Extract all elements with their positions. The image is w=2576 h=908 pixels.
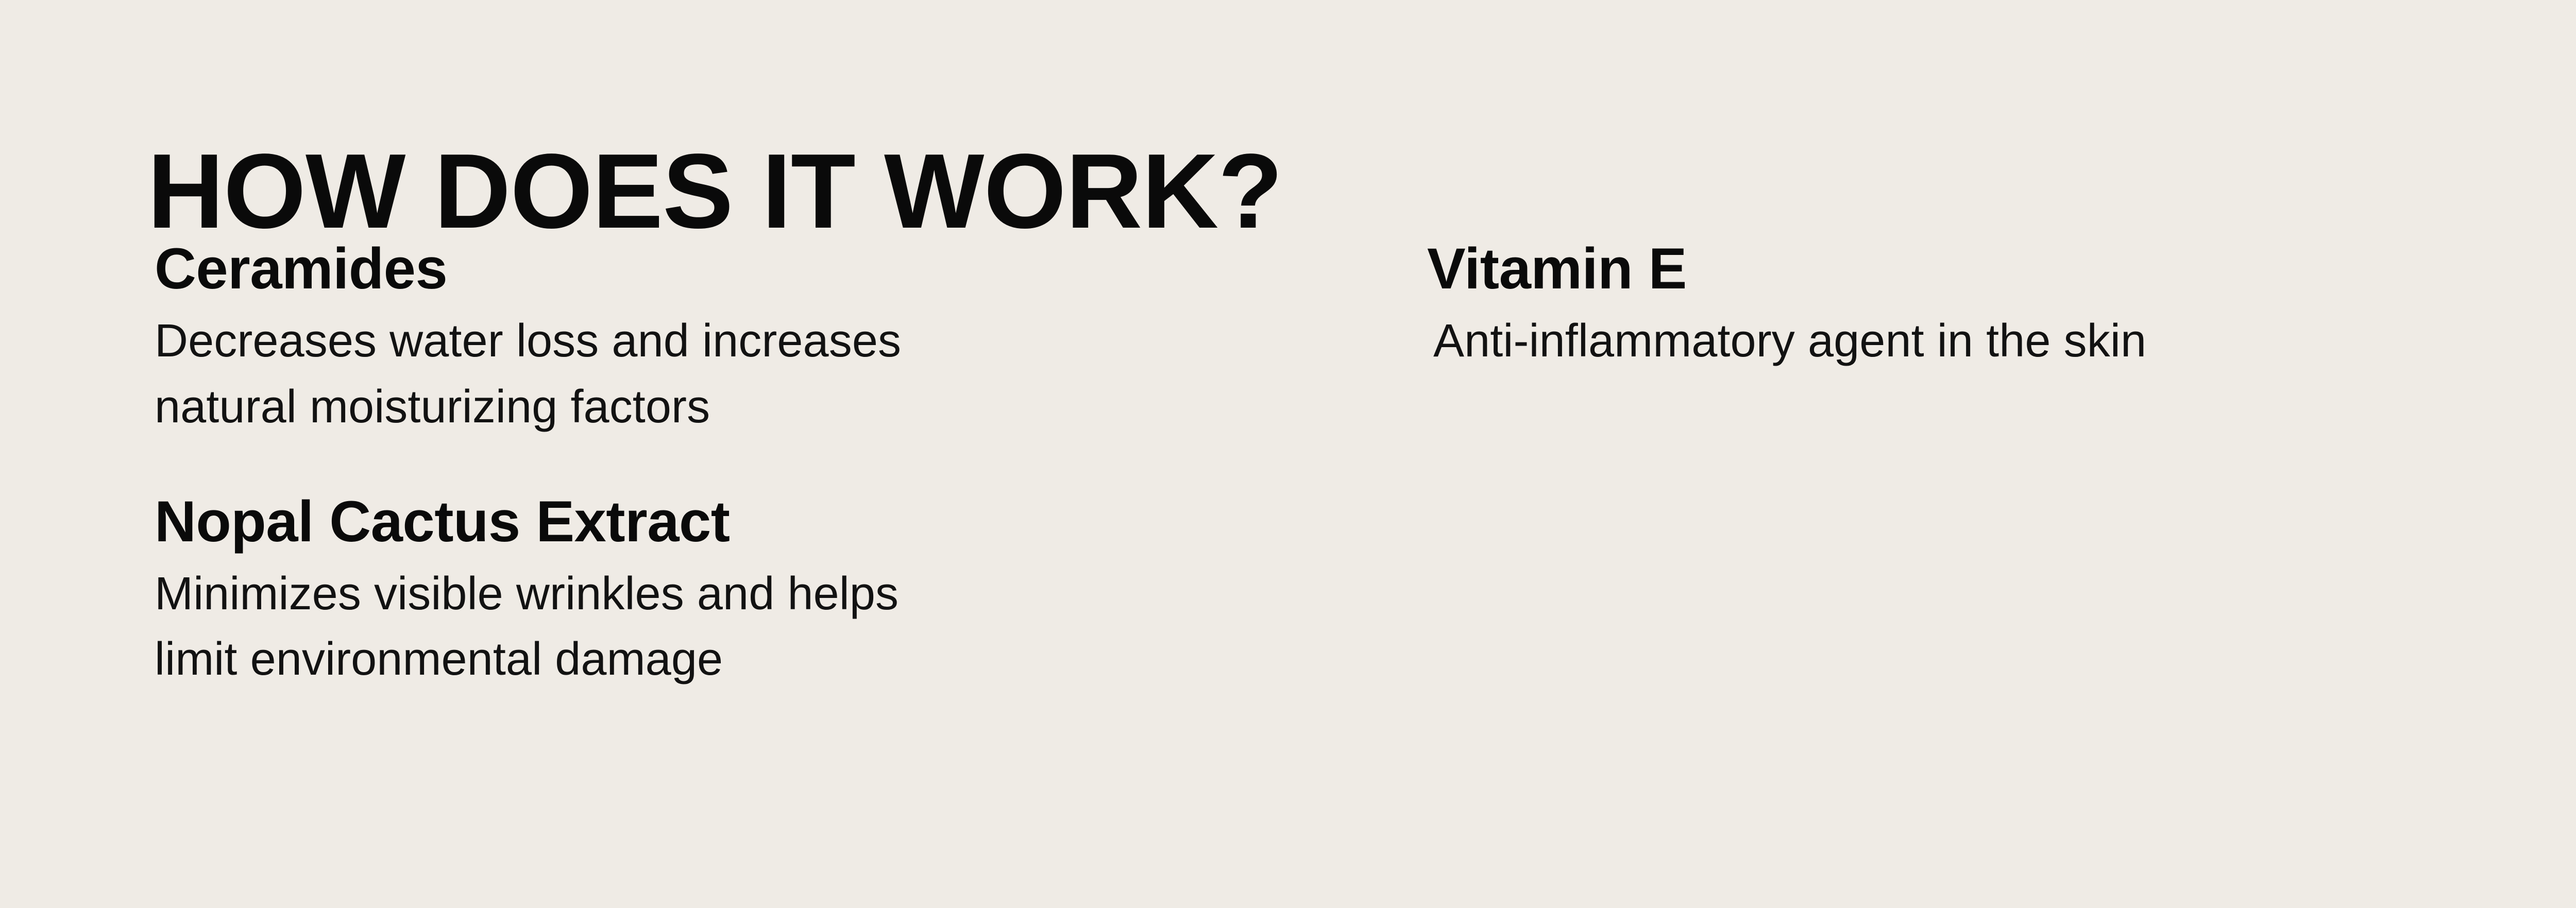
description-line: Minimizes visible wrinkles and helps bbox=[155, 561, 1365, 627]
ingredient-description-nopal-cactus-extract: Minimizes visible wrinkles and helps lim… bbox=[155, 561, 1365, 693]
ingredient-block-ceramides: Ceramides Decreases water loss and incre… bbox=[155, 238, 1381, 440]
description-line: Anti-inflammatory agent in the skin bbox=[1433, 309, 2576, 374]
ingredient-name-nopal-cactus-extract: Nopal Cactus Extract bbox=[155, 491, 1381, 553]
section-title: HOW DOES IT WORK? bbox=[147, 132, 1282, 251]
left-column: Ceramides Decreases water loss and incre… bbox=[155, 238, 1381, 693]
ingredient-block-vitamin-e: Vitamin E Anti-inflammatory agent in the… bbox=[1426, 238, 2576, 374]
ingredient-description-ceramides: Decreases water loss and increases natur… bbox=[155, 309, 1365, 440]
ingredient-benefits-slide: HOW DOES IT WORK? Ceramides Decreases wa… bbox=[0, 0, 2576, 908]
ingredient-block-nopal-cactus-extract: Nopal Cactus Extract Minimizes visible w… bbox=[155, 491, 1381, 693]
ingredient-name-ceramides: Ceramides bbox=[155, 238, 1381, 300]
ingredient-name-vitamin-e: Vitamin E bbox=[1426, 238, 2576, 300]
description-line: limit environmental damage bbox=[155, 627, 1365, 693]
ingredient-description-vitamin-e: Anti-inflammatory agent in the skin bbox=[1426, 309, 2576, 374]
description-line: natural moisturizing factors bbox=[155, 374, 1365, 440]
description-line: Decreases water loss and increases bbox=[155, 309, 1365, 374]
right-column: Vitamin E Anti-inflammatory agent in the… bbox=[1426, 238, 2576, 374]
